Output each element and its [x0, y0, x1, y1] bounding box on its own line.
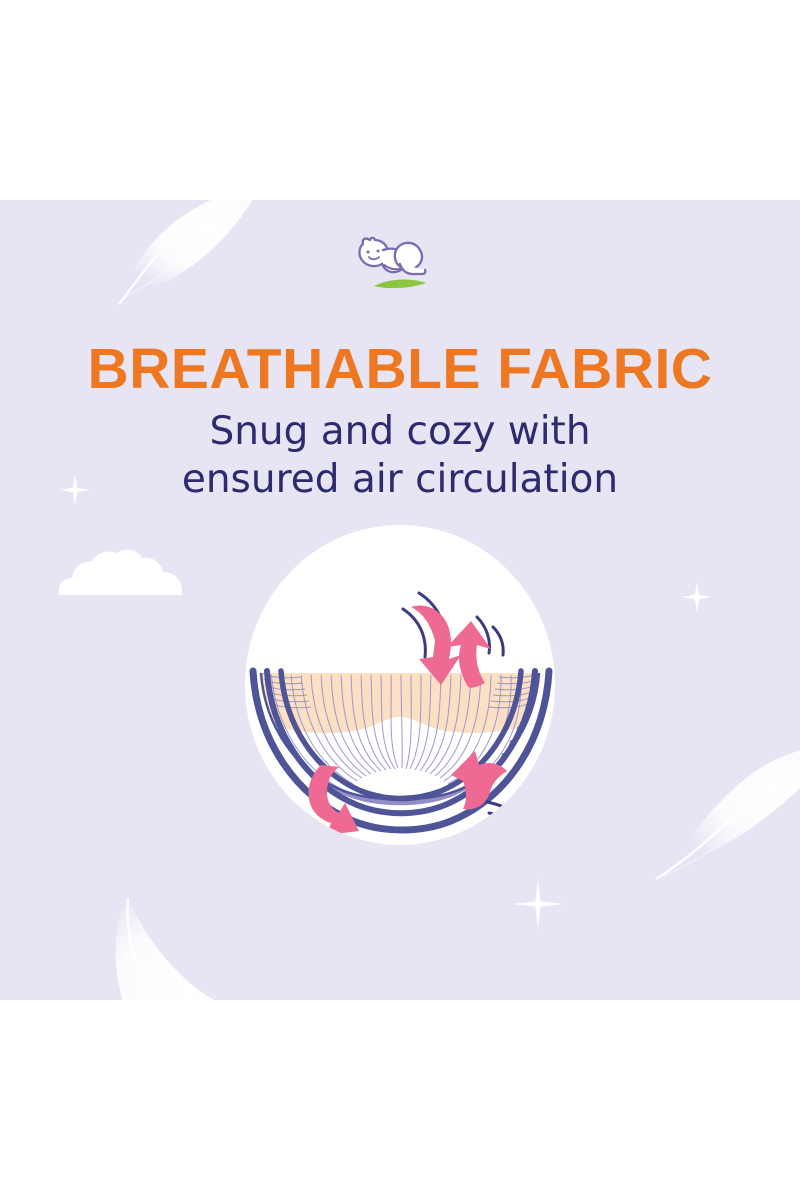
- crawling-baby-logo: [350, 228, 450, 296]
- airflow-diagram: [245, 525, 555, 845]
- sparkle-icon: [512, 878, 564, 930]
- headline-block: BREATHABLE FABRIC Snug and cozy with ens…: [0, 340, 800, 503]
- feather-icon: [100, 880, 300, 1000]
- page-subtitle-line-2: ensured air circulation: [182, 457, 618, 502]
- promo-panel: BREATHABLE FABRIC Snug and cozy with ens…: [0, 200, 800, 1000]
- page-subtitle-line-1: Snug and cozy with: [209, 409, 590, 454]
- feather-icon: [640, 735, 800, 900]
- page-subtitle: Snug and cozy with ensured air circulati…: [0, 408, 800, 503]
- breathable-fabric-illustration: [245, 525, 555, 845]
- feather-icon: [75, 200, 265, 340]
- illustration-disc: [245, 525, 555, 845]
- cloud-icon: [55, 545, 185, 597]
- page-title: BREATHABLE FABRIC: [0, 340, 800, 398]
- sparkle-icon: [682, 582, 712, 612]
